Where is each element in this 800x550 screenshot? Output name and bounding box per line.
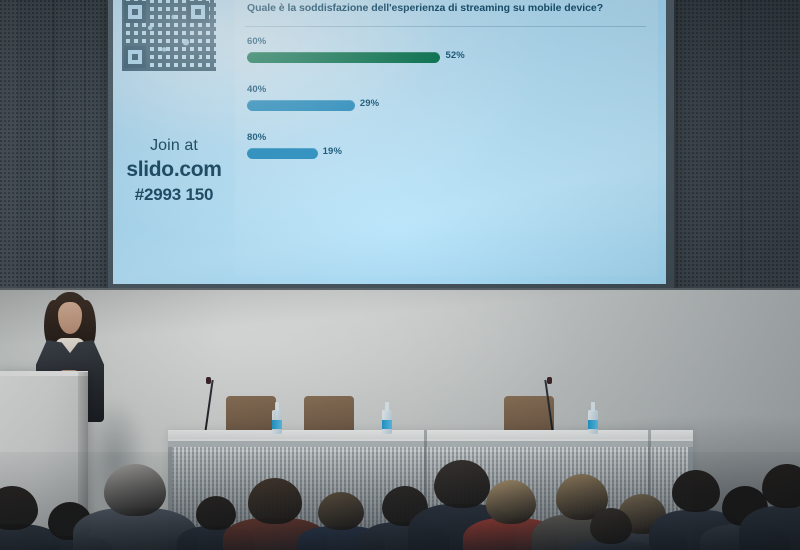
poll-option-row: 60%52% — [247, 36, 648, 84]
slido-join-panel: Join at slido.com #2993 150 — [113, 0, 235, 284]
poll-option-label: 80% — [247, 132, 648, 144]
poll-option-label: 40% — [247, 84, 648, 96]
audience-member-head — [762, 464, 800, 508]
audience-member-head — [248, 478, 302, 524]
poll-bar-fill — [247, 148, 318, 159]
poll-results-panel: Quale è la soddisfazione dell'esperienza… — [235, 0, 658, 276]
join-at-label: Join at — [113, 136, 235, 155]
table-microphone-left — [208, 380, 210, 434]
poll-bar-chart: 60%52%40%29%80%19% — [247, 36, 648, 180]
audience-member-head — [590, 508, 632, 544]
poll-bar-value: 19% — [323, 146, 342, 157]
water-bottle-3 — [588, 402, 598, 434]
poll-bar-value: 29% — [360, 98, 379, 109]
join-url: slido.com — [113, 157, 235, 182]
water-bottle-1 — [272, 402, 282, 434]
join-instructions: Join at slido.com #2993 150 — [113, 136, 235, 205]
title-divider — [245, 26, 646, 27]
poll-bar-fill — [247, 52, 440, 63]
join-event-code: #2993 150 — [113, 184, 235, 205]
audience-member-head — [672, 470, 720, 512]
podium-top-surface — [0, 371, 88, 376]
poll-option-row: 40%29% — [247, 84, 648, 132]
poll-bar-value: 52% — [445, 50, 464, 61]
qr-finder-icon — [124, 46, 146, 68]
audience-seating — [0, 452, 800, 550]
microphone-head-icon — [547, 377, 552, 384]
qr-finder-icon — [124, 1, 146, 23]
conference-room-scene: Join at slido.com #2993 150 Quale è la s… — [0, 0, 800, 550]
poll-bar-fill — [247, 100, 355, 111]
poll-bar-track: 52% — [247, 52, 648, 63]
audience-member-head — [104, 464, 166, 516]
audience-member-head — [486, 480, 536, 524]
poll-bar-track: 29% — [247, 100, 648, 111]
audience-member-head — [434, 460, 490, 508]
poll-question-title: Quale è la soddisfazione dell'esperienza… — [247, 1, 644, 15]
audience-member-head — [318, 492, 364, 530]
poll-option-row: 80%19% — [247, 132, 648, 180]
audience-member-head — [196, 496, 236, 530]
wall-seam — [0, 288, 800, 290]
poll-bar-track: 19% — [247, 148, 648, 159]
table-microphone-right — [548, 380, 550, 434]
qr-finder-icon — [187, 1, 209, 23]
projection-screen: Join at slido.com #2993 150 Quale è la s… — [113, 0, 666, 284]
audience-member-head — [0, 486, 38, 530]
poll-option-label: 60% — [247, 36, 648, 48]
panel-table-top — [168, 430, 693, 439]
water-bottle-2 — [382, 402, 392, 434]
